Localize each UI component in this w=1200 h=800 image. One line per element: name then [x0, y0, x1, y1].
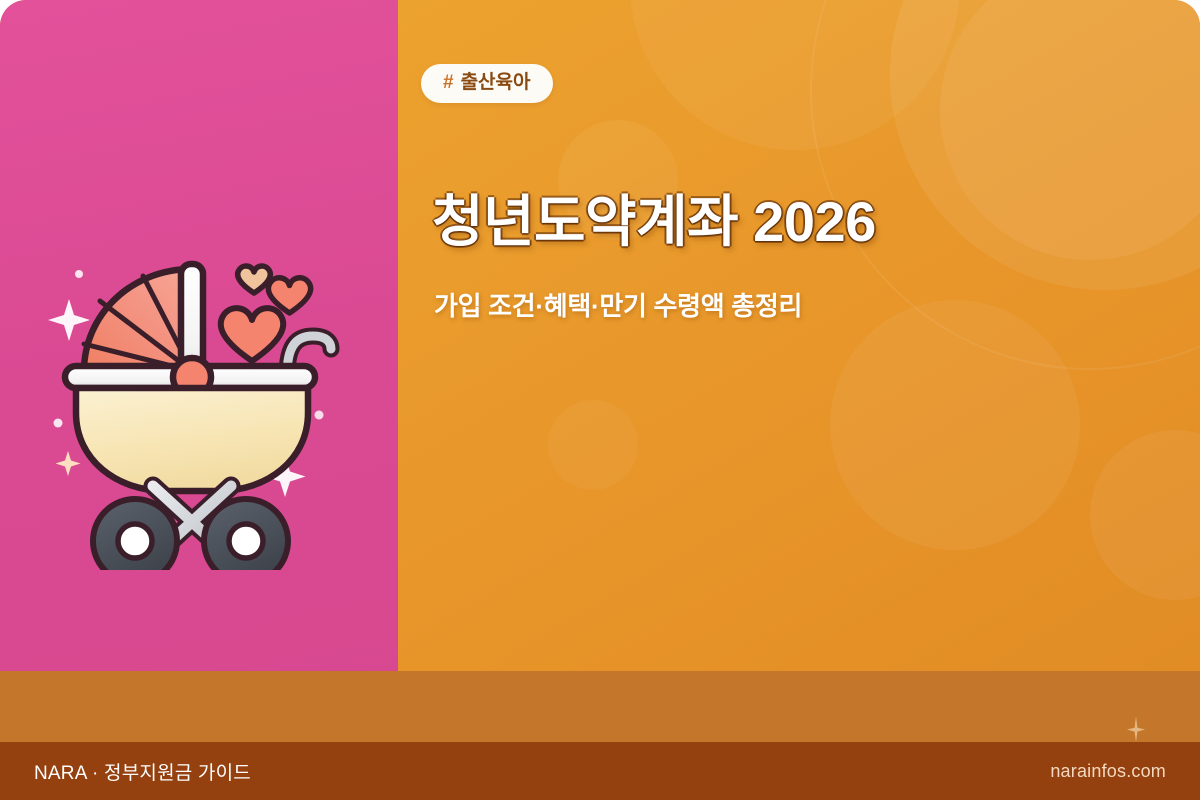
baby-stroller-illustration: [38, 248, 360, 570]
footer-brand-label: NARA · 정부지원금 가이드: [34, 758, 251, 785]
bottom-accent-band: [0, 671, 1200, 742]
hash-icon: #: [443, 73, 454, 92]
decorative-circle: [1090, 430, 1200, 600]
category-badge-label: 출산육아: [461, 73, 531, 92]
footer-site-url: narainfos.com: [1050, 761, 1166, 782]
page-subtitle: 가입 조건·혜택·만기 수령액 총정리: [434, 289, 1134, 324]
footer-bar: NARA · 정부지원금 가이드 narainfos.com: [0, 742, 1200, 800]
decorative-circle: [548, 400, 638, 490]
sparkle-icon: [1127, 716, 1145, 742]
thumbnail-card: # 출산육아 청년도약계좌 2026 가입 조건·혜택·만기 수령액 총정리 N…: [0, 0, 1200, 800]
page-title: 청년도약계좌 2026: [432, 190, 1162, 255]
category-badge: # 출산육아: [421, 64, 553, 103]
